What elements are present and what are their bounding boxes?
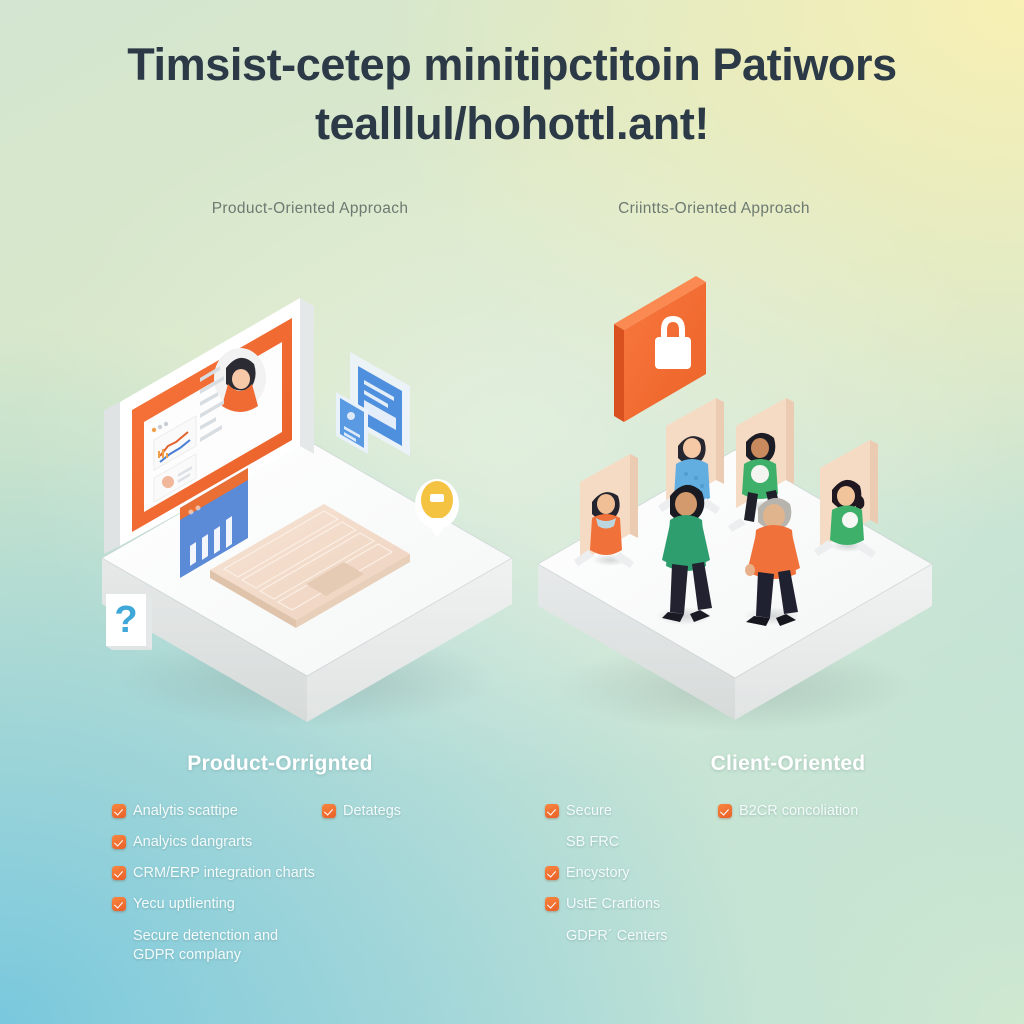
- approach-label-right: Criintts-Oriented Approach: [504, 200, 924, 218]
- list-item[interactable]: Yecu uptlienting: [112, 895, 322, 914]
- list-item[interactable]: UstE Crartions: [545, 895, 725, 914]
- bullet-column-4: B2CR concoliation: [718, 802, 933, 833]
- list-item-label: GDPR´ Centers: [545, 927, 668, 946]
- list-item[interactable]: Analytis scattipe: [112, 802, 322, 821]
- check-icon: [322, 804, 336, 818]
- check-icon: [545, 897, 559, 911]
- list-item-label: UstE Crartions: [566, 895, 660, 914]
- question-mark-card: ?: [106, 594, 152, 650]
- list-item: GDPR´ Centers: [545, 927, 725, 946]
- page-title: Timsist-cetep minitipctitoin Patiwors te…: [0, 36, 1024, 153]
- list-item-label: Yecu uptlienting: [133, 895, 235, 914]
- list-item[interactable]: Encystory: [545, 864, 725, 883]
- list-item-label: Detategs: [343, 802, 401, 821]
- padlock-icon: [614, 276, 706, 422]
- check-icon: [112, 866, 126, 880]
- check-icon: [718, 804, 732, 818]
- bullet-column-3: Secure SB FRC Encystory UstE Crartions G…: [545, 802, 725, 958]
- comparison-summary-panel: Product-Orrignted Client-Oriented Analyt…: [0, 738, 1024, 1024]
- list-item[interactable]: Analyics dangrarts: [112, 833, 322, 852]
- check-icon: [545, 804, 559, 818]
- bullet-column-1: Analytis scattipe Analyics dangrarts CRM…: [112, 802, 322, 977]
- list-item-label: Analyics dangrarts: [133, 833, 252, 852]
- list-item[interactable]: B2CR concoliation: [718, 802, 933, 821]
- approach-label-left: Product-Oriented Approach: [100, 200, 520, 218]
- svg-text:?: ?: [114, 599, 137, 641]
- list-item-label: Secure: [566, 802, 612, 821]
- check-icon: [112, 804, 126, 818]
- check-icon: [112, 835, 126, 849]
- check-icon: [112, 897, 126, 911]
- list-item[interactable]: Secure: [545, 802, 725, 821]
- list-item: SB FRC: [545, 833, 725, 852]
- list-item-label: CRM/ERP integration charts: [133, 864, 315, 883]
- list-item-label: Secure detenction and GDPR complany: [112, 927, 322, 965]
- illustration-product-oriented: ?: [92, 250, 512, 720]
- list-item-label: Analytis scattipe: [133, 802, 238, 821]
- list-item[interactable]: CRM/ERP integration charts: [112, 864, 322, 883]
- list-item-label: B2CR concoliation: [739, 802, 858, 821]
- list-item: Secure detenction and GDPR complany: [112, 927, 322, 965]
- list-item[interactable]: Detategs: [322, 802, 522, 821]
- bullet-column-2: Detategs: [322, 802, 522, 833]
- summary-heading-client: Client-Oriented: [578, 752, 998, 776]
- illustration-client-oriented: [520, 268, 940, 718]
- list-item-label: SB FRC: [545, 833, 619, 852]
- summary-heading-product: Product-Orrignted: [70, 752, 490, 776]
- page-title-line2: tealllul/hohottl.ant!: [60, 95, 964, 154]
- list-item-label: Encystory: [566, 864, 630, 883]
- check-icon: [545, 866, 559, 880]
- page-title-line1: Timsist-cetep minitipctitoin Patiwors: [127, 39, 897, 90]
